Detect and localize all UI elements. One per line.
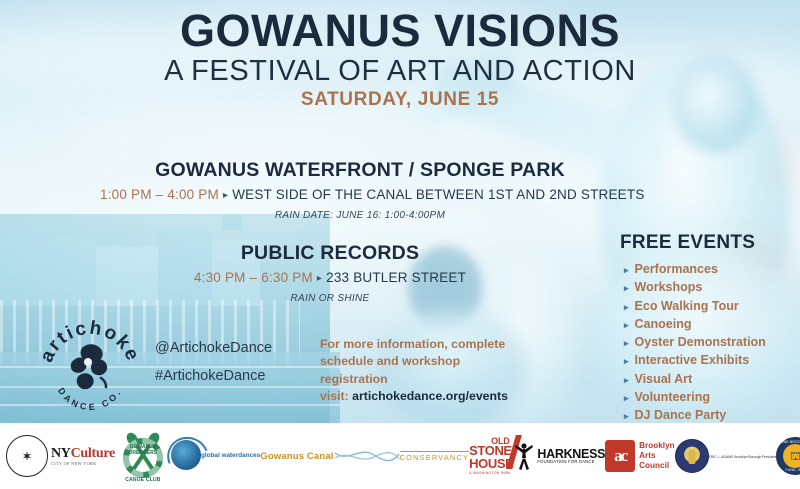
triangle-bullet-icon: ▸: [624, 337, 629, 350]
free-event-item: ▸Canoeing: [620, 315, 795, 333]
free-event-label: Volunteering: [635, 388, 710, 406]
free-event-label: Interactive Exhibits: [635, 351, 750, 369]
triangle-bullet-icon: ▸: [624, 282, 629, 295]
visit-label: visit:: [320, 389, 352, 403]
bac-wordmark: Brooklyn Arts Council: [639, 441, 675, 471]
venue-time: 1:00 PM – 4:00 PM: [100, 187, 219, 202]
nyculture-wordmark: NYCulture CITY OF NEW YORK: [51, 445, 115, 466]
osh-wordmark: OLD STONE HOUSE & WASHINGTON PARK: [469, 437, 513, 475]
nyculture-word-a: NY: [51, 446, 71, 461]
sponsor-bar: ✶ NYCulture CITY OF NEW YORK GOWANUS DRE…: [0, 423, 800, 489]
sponsor-logo-brooklyn-arts-council: ac Brooklyn Arts Council: [605, 440, 675, 472]
page-title: GOWANUS VISIONS: [0, 8, 800, 53]
free-event-item: ▸DJ Dance Party: [620, 406, 795, 424]
bac-mark-icon: ac: [605, 440, 635, 472]
free-event-label: Visual Art: [635, 370, 693, 388]
canoe-club-icon: GOWANUS DREDGERS CANOE CLUB: [115, 430, 171, 482]
venue-details: 4:30 PM – 6:30 PM▸233 BUTLER STREET: [120, 271, 540, 286]
nyculture-word-b: Culture: [71, 446, 115, 461]
free-events-title: FREE EVENTS: [620, 232, 795, 254]
globe-icon: [171, 440, 201, 470]
triangle-bullet-icon: ▸: [624, 264, 629, 277]
svg-text:DANCE CO.: DANCE CO.: [56, 386, 124, 412]
venue-note: RAIN OR SHINE: [120, 293, 540, 304]
wave-icon: [334, 449, 400, 463]
triangle-bullet-icon: ▸: [624, 392, 629, 405]
sponsor-logo-borough-president: ERIC L. ADAMS Brooklyn Borough President: [675, 439, 777, 473]
info-visit-line: visit: artichokedance.org/events: [320, 388, 525, 405]
social-handles: @ArtichokeDance #ArtichokeDance: [155, 334, 272, 391]
artichoke-dance-logo: artichoke DANCE CO.: [38, 312, 142, 416]
nyculture-sub: CITY OF NEW YORK: [51, 462, 115, 466]
sponsor-logo-gowanus-dredgers: GOWANUS DREDGERS CANOE CLUB: [115, 430, 171, 482]
borough-seal-caption: ERIC L. ADAMS Brooklyn Borough President: [709, 453, 777, 459]
free-events-list: ▸Performances▸Workshops▸Eco Walking Tour…: [620, 260, 795, 424]
bac-line-2: Arts: [639, 451, 675, 461]
free-event-item: ▸Volunteering: [620, 388, 795, 406]
triangle-icon: ▸: [219, 190, 232, 201]
harkness-sub: FOUNDATION FOR DANCE: [537, 460, 605, 464]
info-block: For more information, complete schedule …: [320, 336, 525, 406]
venue-details: 1:00 PM – 4:00 PM▸WEST SIDE OF THE CANAL…: [100, 188, 620, 203]
free-event-item: ▸Visual Art: [620, 370, 795, 388]
free-event-item: ▸Interactive Exhibits: [620, 351, 795, 369]
free-event-label: Oyster Demonstration: [635, 333, 766, 351]
free-event-label: Performances: [635, 260, 718, 278]
free-event-item: ▸Workshops: [620, 278, 795, 296]
gcc-top-text: Gowanus Canal: [260, 451, 333, 462]
info-line-2: schedule and workshop registration: [320, 353, 525, 388]
triangle-bullet-icon: ▸: [624, 374, 629, 387]
sponsor-logo-gowanus-canal-conservancy: Gowanus Canal CONSERVANCY: [260, 447, 469, 465]
bac-line-1: Brooklyn: [639, 441, 675, 451]
sponsor-logo-old-stone-house: OLD STONE HOUSE & WASHINGTON PARK: [469, 437, 513, 475]
event-date: SATURDAY, JUNE 15: [0, 90, 800, 109]
venue-block-waterfront: GOWANUS WATERFRONT / SPONGE PARK 1:00 PM…: [100, 160, 620, 221]
dancer-figure-icon: [513, 441, 535, 471]
harkness-wordmark: HARKNESS FOUNDATION FOR DANCE: [537, 448, 605, 465]
triangle-bullet-icon: ▸: [624, 410, 629, 423]
sponsor-logo-nyculture: ✶ NYCulture CITY OF NEW YORK: [6, 435, 115, 477]
event-poster: GOWANUS VISIONS A FESTIVAL OF ART AND AC…: [0, 0, 800, 489]
social-handle: @ArtichokeDance: [155, 334, 272, 362]
osh-line-4: & WASHINGTON PARK: [469, 470, 513, 475]
borough-seal-icon: [675, 439, 709, 473]
social-hashtag: #ArtichokeDance: [155, 362, 272, 390]
nyculture-seal-icon: ✶: [6, 435, 48, 477]
free-event-item: ▸Performances: [620, 260, 795, 278]
one-brooklyn-icon: ONE BROOKLYN ⛫ FUND, INC.: [776, 437, 800, 475]
venue-note: RAIN DATE: JUNE 16: 1:00-4:00PM: [100, 210, 620, 221]
one-brooklyn-center: ⛫: [783, 444, 800, 468]
free-event-item: ▸Oyster Demonstration: [620, 333, 795, 351]
free-event-label: Eco Walking Tour: [635, 297, 739, 315]
sponsor-logo-one-brooklyn: ONE BROOKLYN ⛫ FUND, INC.: [776, 437, 800, 475]
sponsor-logo-global-water-dances: global water dances: [171, 440, 260, 472]
venue-address: WEST SIDE OF THE CANAL BETWEEN 1ST AND 2…: [232, 187, 644, 202]
triangle-icon: ▸: [313, 273, 326, 284]
venue-address: 233 BUTLER STREET: [326, 270, 466, 285]
bac-line-3: Council: [639, 461, 675, 471]
free-event-label: DJ Dance Party: [635, 406, 727, 424]
venue-name: PUBLIC RECORDS: [120, 243, 540, 264]
one-brooklyn-top: ONE BROOKLYN: [777, 440, 800, 444]
one-brooklyn-bottom: FUND, INC.: [777, 468, 800, 472]
venue-name: GOWANUS WATERFRONT / SPONGE PARK: [100, 160, 620, 181]
website-url[interactable]: artichokedance.org/events: [352, 389, 508, 403]
gwd-line-2: dances: [238, 452, 260, 460]
canoe-top-text: GOWANUS DREDGERS: [115, 444, 171, 456]
venue-time: 4:30 PM – 6:30 PM: [194, 270, 313, 285]
sponsor-logo-harkness: HARKNESS FOUNDATION FOR DANCE: [513, 441, 605, 471]
page-subtitle: A FESTIVAL OF ART AND ACTION: [0, 57, 800, 86]
triangle-bullet-icon: ▸: [624, 319, 629, 332]
free-events-panel: FREE EVENTS ▸Performances▸Workshops▸Eco …: [620, 232, 795, 424]
free-event-label: Workshops: [635, 278, 703, 296]
info-line-1: For more information, complete: [320, 336, 525, 353]
free-event-label: Canoeing: [635, 315, 692, 333]
triangle-bullet-icon: ▸: [624, 355, 629, 368]
free-event-item: ▸Eco Walking Tour: [620, 297, 795, 315]
venue-block-public-records: PUBLIC RECORDS 4:30 PM – 6:30 PM▸233 BUT…: [120, 243, 540, 304]
triangle-bullet-icon: ▸: [624, 301, 629, 314]
gcc-bottom-text: CONSERVANCY: [400, 451, 470, 462]
canoe-bottom-text: CANOE CLUB: [115, 477, 171, 483]
